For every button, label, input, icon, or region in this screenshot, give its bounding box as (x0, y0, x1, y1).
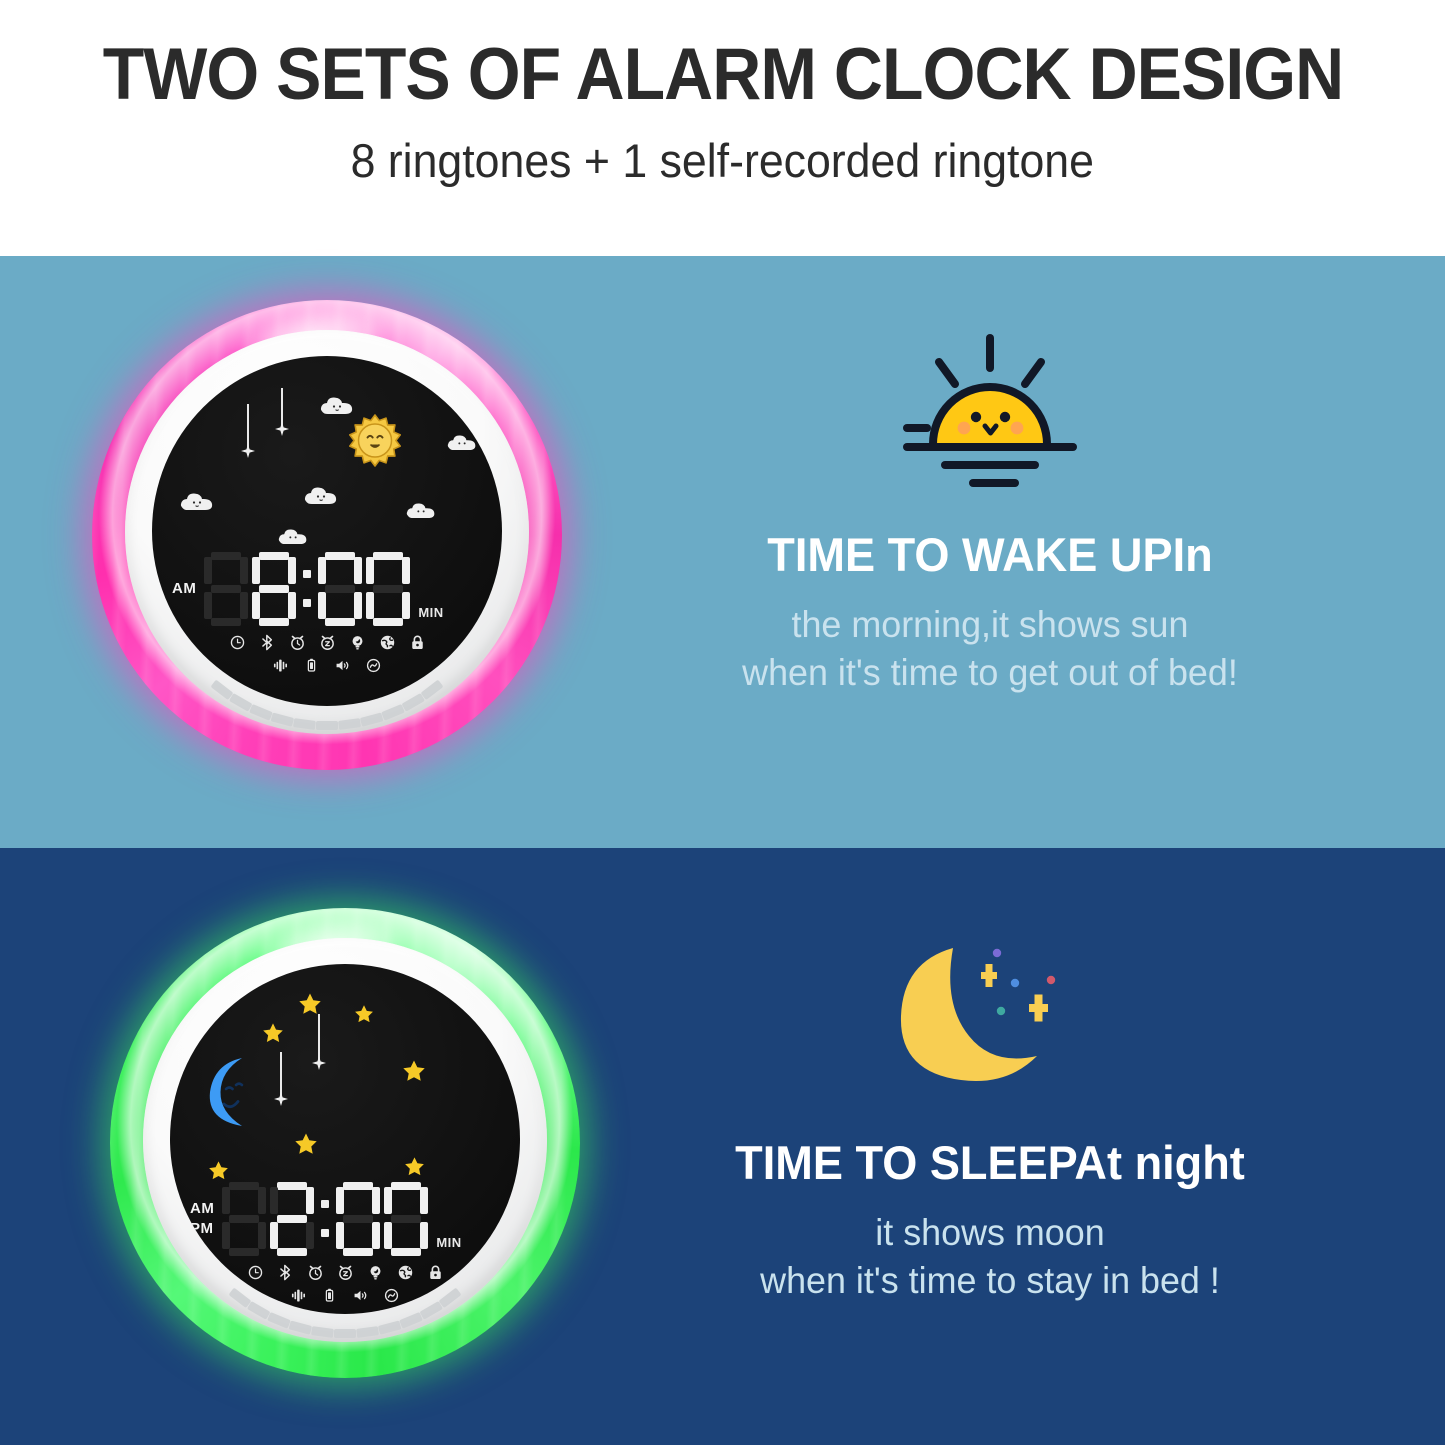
star-icon (294, 1132, 318, 1156)
battery-icon (304, 658, 319, 673)
shooting-star-spark (241, 444, 255, 458)
hour-digit-1 (203, 552, 249, 626)
star-icon (402, 1059, 426, 1083)
alarm-two-icon (319, 634, 336, 651)
page-subtitle: 8 ringtones + 1 self-recorded ringtone (351, 137, 1094, 184)
star-icon (404, 1156, 425, 1177)
alarm-clock-night: AM PM (110, 908, 580, 1378)
min-label: MIN (418, 605, 443, 620)
cloud-icon (278, 528, 308, 545)
clock-display-screen-night: AM PM (170, 964, 520, 1314)
hour-digit-1 (221, 1182, 267, 1256)
minute-digit-1 (317, 552, 363, 626)
time-digits (220, 1182, 430, 1256)
page-header: TWO SETS OF ALARM CLOCK DESIGN 8 rington… (0, 0, 1445, 256)
ampm-indicator: AM PM (190, 1199, 214, 1240)
sunrise-icon (885, 332, 1095, 492)
moon-stars-icon (885, 940, 1095, 1090)
night-feature-title: TIME TO SLEEPAt night (654, 1138, 1326, 1187)
page-title: TWO SETS OF ALARM CLOCK DESIGN (102, 38, 1343, 111)
cloud-icon (304, 486, 338, 505)
night-light-icon (367, 1264, 384, 1281)
hour-digit-2 (251, 552, 297, 626)
sound-wave-icon (291, 1288, 306, 1303)
star-icon (298, 992, 322, 1016)
bluetooth-icon (277, 1264, 294, 1281)
minute-digit-1 (335, 1182, 381, 1256)
night-body-line-1: it shows moon (651, 1209, 1330, 1256)
hour-digit-2 (269, 1182, 315, 1256)
shooting-star-spark (274, 1092, 288, 1106)
day-feature-title: TIME TO WAKE UPIn (654, 530, 1326, 579)
night-feature-body: it shows moon when it's time to stay in … (651, 1209, 1330, 1304)
product-feature-page: TWO SETS OF ALARM CLOCK DESIGN 8 rington… (0, 0, 1445, 1445)
shooting-star-icon (275, 388, 289, 430)
shooting-star-icon (312, 1014, 326, 1064)
status-icon-group-night (220, 1264, 470, 1303)
minute-digit-2 (365, 552, 411, 626)
pm-label: PM (190, 1219, 214, 1239)
led-time-display-night: AM PM (190, 1182, 462, 1256)
day-body-line-1: the morning,it shows sun (651, 601, 1330, 648)
alarm-clock-day: AM (92, 300, 562, 770)
sunrise-icon-art (885, 332, 1095, 492)
status-icon-row-1 (247, 1264, 444, 1281)
status-icon-row-1 (229, 634, 426, 651)
status-icon-row-2 (291, 1288, 399, 1303)
clock-icon (247, 1264, 264, 1281)
cloud-icon (320, 396, 354, 415)
star-icon (208, 1160, 229, 1181)
cloud-icon (180, 492, 214, 511)
moon-face-icon (198, 1056, 260, 1128)
lock-icon (427, 1264, 444, 1281)
night-light-icon (349, 634, 366, 651)
speaker-mute-icon (353, 1288, 368, 1303)
time-colon (298, 552, 316, 626)
cloud-icon (447, 434, 477, 451)
alarm-two-icon (337, 1264, 354, 1281)
star-icon (262, 1022, 284, 1044)
time-digits (202, 552, 412, 626)
am-label: AM (190, 1199, 214, 1219)
day-body-line-2: when it's time to get out of bed! (651, 649, 1330, 696)
alarm-one-icon (307, 1264, 324, 1281)
lock-icon (409, 634, 426, 651)
day-feature-text: TIME TO WAKE UPIn the morning,it shows s… (640, 332, 1340, 696)
clock-display-screen-day: AM (152, 356, 502, 706)
globe-icon (379, 634, 396, 651)
bluetooth-icon (259, 634, 276, 651)
day-feature-body: the morning,it shows sun when it's time … (651, 601, 1330, 696)
shooting-star-icon (241, 404, 255, 452)
clock-icon (229, 634, 246, 651)
sound-wave-icon (273, 658, 288, 673)
speaker-mute-icon (335, 658, 350, 673)
time-colon (316, 1182, 334, 1256)
shooting-star-spark (275, 422, 289, 436)
alarm-one-icon (289, 634, 306, 651)
battery-icon (322, 1288, 337, 1303)
minute-digit-2 (383, 1182, 429, 1256)
sun-icon (344, 412, 406, 474)
status-icon-row-2 (273, 658, 381, 673)
am-label: AM (172, 579, 196, 599)
globe-icon (397, 1264, 414, 1281)
night-body-line-2: when it's time to stay in bed ! (651, 1257, 1330, 1304)
min-label: MIN (436, 1235, 461, 1250)
ampm-indicator: AM (172, 579, 196, 599)
sync-icon (384, 1288, 399, 1303)
cloud-icon (406, 502, 436, 519)
shooting-star-spark (312, 1056, 326, 1070)
star-icon (354, 1004, 374, 1024)
night-feature-text: TIME TO SLEEPAt night it shows moon when… (640, 940, 1340, 1304)
sync-icon (366, 658, 381, 673)
moon-stars-icon-art (885, 940, 1095, 1090)
status-icon-group-day (202, 634, 452, 673)
led-time-display-day: AM (172, 552, 444, 626)
shooting-star-icon (274, 1052, 288, 1100)
